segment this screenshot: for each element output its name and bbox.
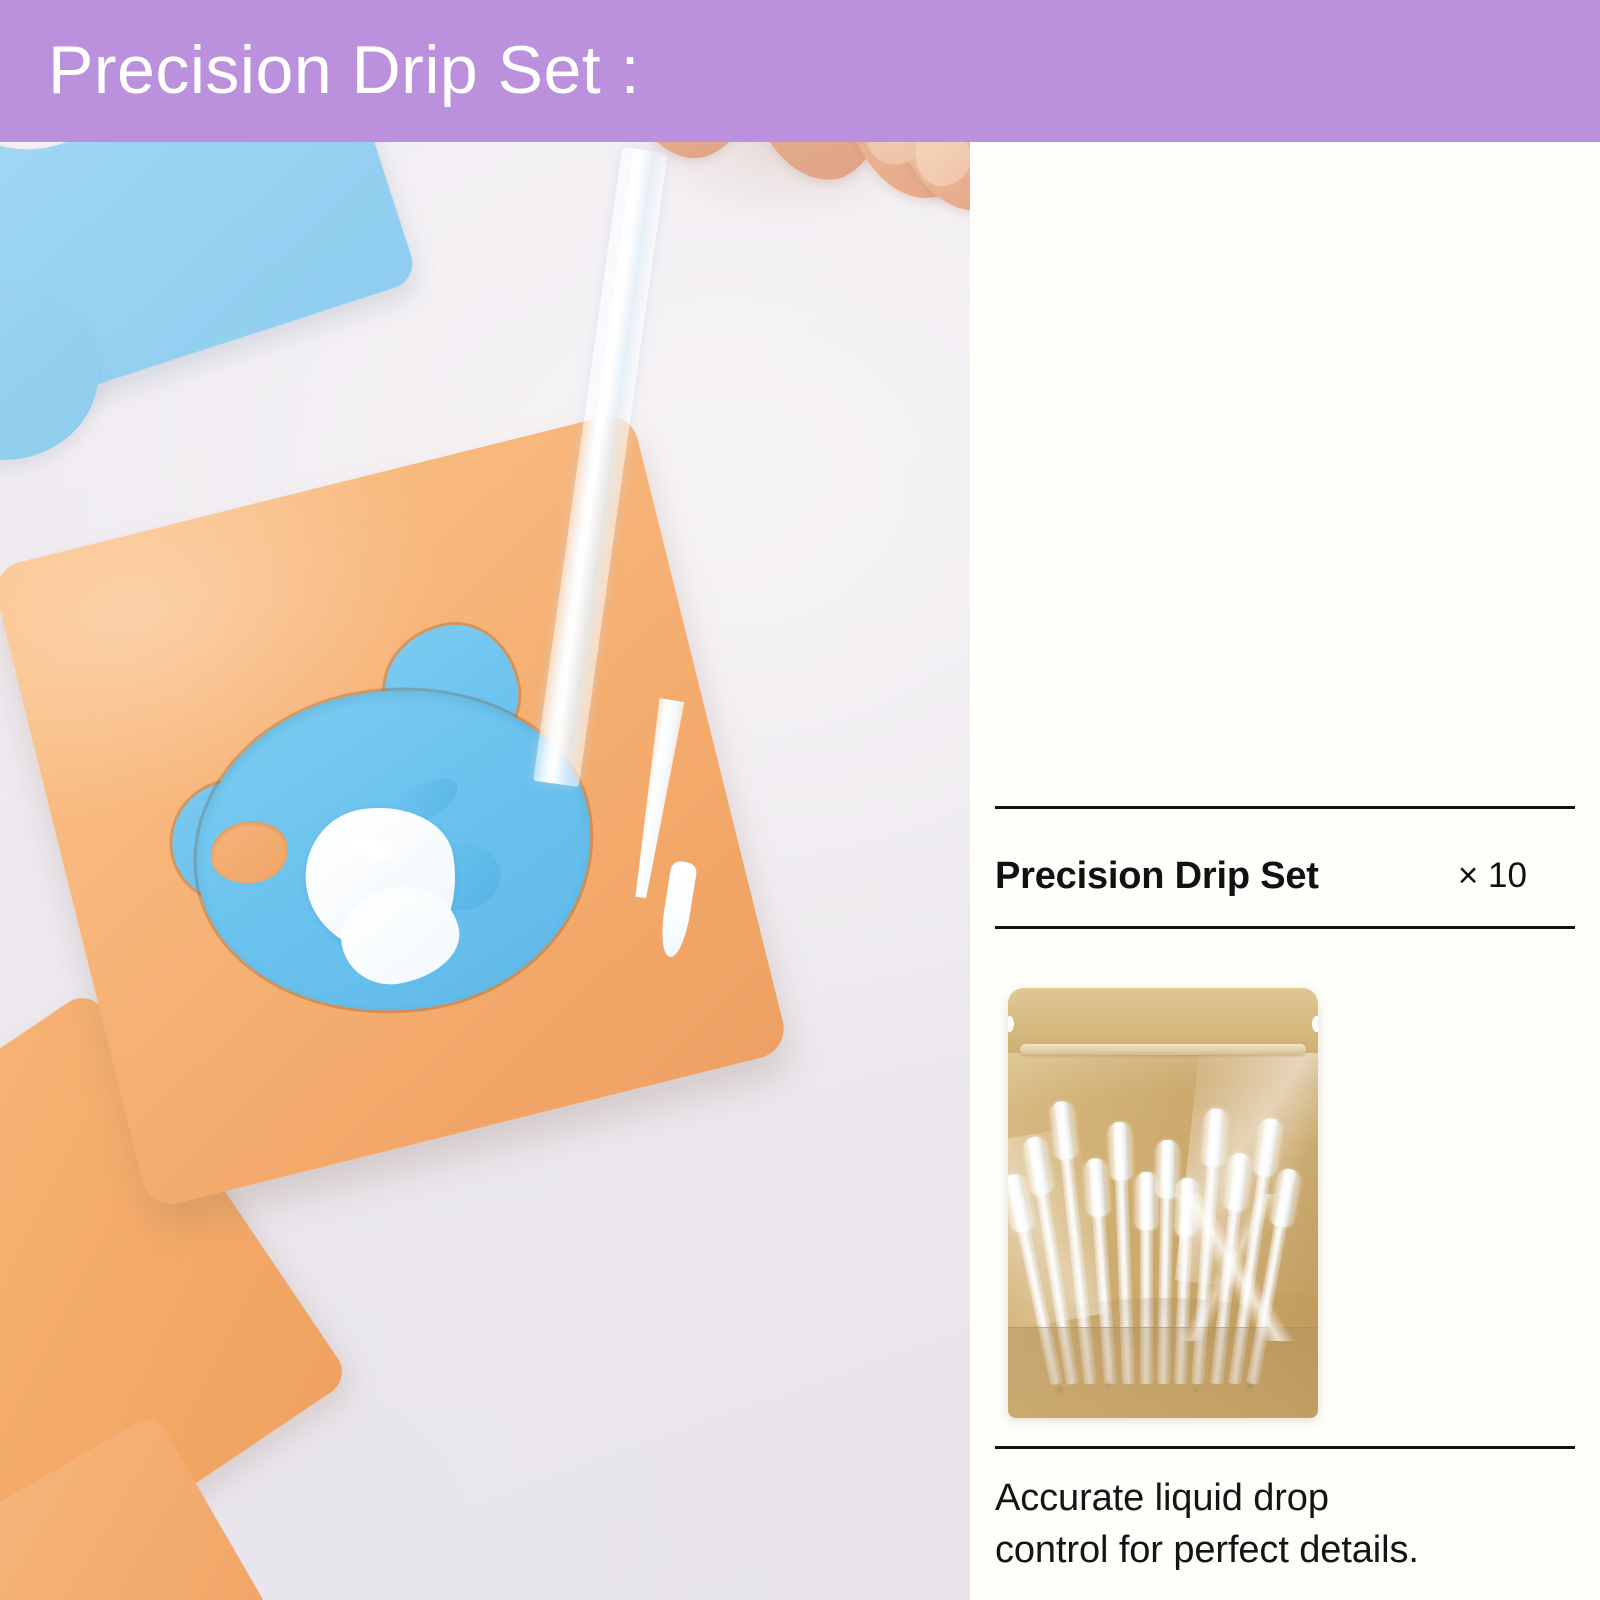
header-band: Precision Drip Set : — [0, 0, 1600, 142]
description-line-1: Accurate liquid drop — [995, 1472, 1575, 1524]
bag-tear-notch-right — [1312, 1016, 1318, 1032]
hand-shadow — [632, 142, 942, 230]
blue-board-cutout — [0, 142, 212, 175]
bag-crinkle-highlight — [1169, 1194, 1299, 1340]
hand-holding-pipette — [592, 142, 970, 350]
bag-bottom-speckles — [1027, 1374, 1300, 1400]
item-description: Accurate liquid drop control for perfect… — [995, 1472, 1575, 1576]
bag-zip-lock — [1020, 1044, 1306, 1055]
divider-top — [995, 806, 1575, 809]
divider-bottom — [995, 1446, 1575, 1449]
kraft-resealable-bag — [1008, 988, 1318, 1418]
description-line-2: control for perfect details. — [995, 1524, 1575, 1576]
item-summary-row: Precision Drip Set × 10 — [995, 832, 1575, 920]
item-info-panel: Precision Drip Set × 10 — [970, 142, 1600, 1600]
photo-stage — [0, 142, 970, 1600]
bag-bottom-gusset — [1008, 1327, 1318, 1418]
item-quantity: × 10 — [1458, 856, 1575, 896]
item-name: Precision Drip Set — [995, 855, 1319, 898]
product-demo-photo — [0, 142, 970, 1600]
product-image — [995, 954, 1575, 1434]
product-feature-card: Precision Drip Set : — [0, 0, 1600, 1600]
page-title: Precision Drip Set : — [48, 22, 640, 118]
pipette-bulb — [1108, 1122, 1133, 1181]
divider-middle — [995, 926, 1575, 929]
